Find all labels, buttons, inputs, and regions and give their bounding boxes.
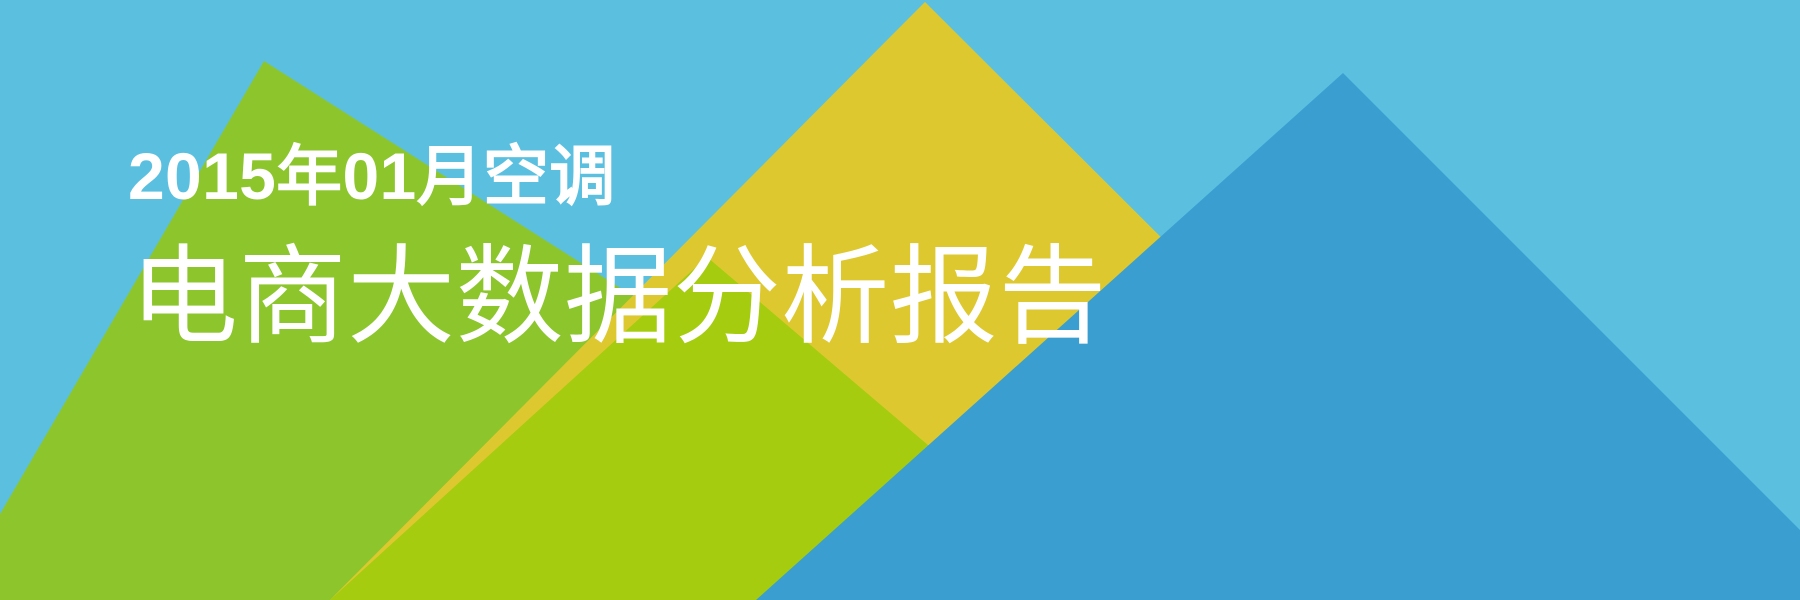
- background-geometry: [0, 0, 1800, 600]
- report-cover: 2015年01月空调 电商大数据分析报告: [0, 0, 1800, 600]
